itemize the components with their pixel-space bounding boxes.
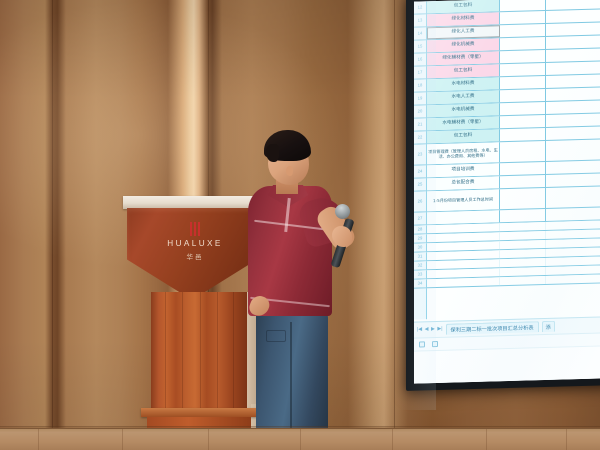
presenter-ear: [286, 166, 293, 176]
value-cell-b[interactable]: [500, 231, 546, 240]
value-cell-c[interactable]: [546, 186, 600, 208]
row-label-cell[interactable]: 水电辅材费（零星）: [427, 116, 500, 130]
row-label-cell[interactable]: 包工包料: [427, 0, 500, 13]
value-cell-b[interactable]: [500, 222, 546, 231]
row-label-cell[interactable]: 项目管理费（管理人员房租、水电、生活、办公费用、其他费等）: [427, 142, 500, 164]
row-number: 28: [414, 225, 427, 233]
hotel-logo: HUALUXE 华邑: [157, 222, 233, 261]
value-cell-c[interactable]: [546, 139, 600, 161]
value-cell-b[interactable]: [500, 141, 546, 162]
row-number: 16: [414, 53, 427, 65]
row-label-cell[interactable]: 水电材料费: [427, 77, 500, 91]
value-cell-b[interactable]: [500, 76, 546, 89]
lectern-base-cap: [141, 408, 257, 417]
value-cell-b[interactable]: [500, 249, 546, 258]
value-cell-c[interactable]: [546, 173, 600, 187]
value-cell-c[interactable]: [546, 126, 600, 140]
spreadsheet-rows: 12包工包料13绿化材料费14绿化人工费15绿化机械费16绿化辅材费（零星）17…: [414, 0, 600, 289]
screen-surface: 12包工包料13绿化材料费14绿化人工费15绿化机械费16绿化辅材费（零星）17…: [414, 0, 600, 384]
wall-panel-seam: [394, 0, 395, 450]
row-number: 26: [414, 191, 427, 211]
row-label-cell[interactable]: 水电机械费: [427, 103, 500, 117]
value-cell-b[interactable]: [500, 37, 546, 50]
sheet-tab-add[interactable]: 添: [542, 321, 555, 332]
presenter: [246, 128, 370, 450]
sheet-nav-buttons[interactable]: |◀ ◀ ▶ ▶|: [417, 327, 443, 333]
value-cell-c[interactable]: [546, 113, 600, 127]
row-number: 32: [414, 261, 427, 269]
hotel-logo-cn: 华邑: [157, 251, 233, 261]
row-number: 33: [414, 270, 427, 278]
value-cell-c[interactable]: [546, 238, 600, 248]
value-cell-b[interactable]: [500, 240, 546, 249]
value-cell-c[interactable]: [546, 74, 600, 88]
wainscot-band: [0, 428, 600, 450]
value-cell-c[interactable]: [546, 220, 600, 230]
value-cell-c[interactable]: [546, 265, 600, 275]
status-bar: [414, 345, 600, 383]
lectern-front-panel: HUALUXE 华邑: [127, 208, 257, 300]
value-cell-b[interactable]: [500, 102, 546, 115]
wall-panel-seam: [52, 0, 53, 450]
row-number: 25: [414, 178, 427, 190]
presenter-right-hand: [332, 226, 352, 247]
row-label-cell[interactable]: 水电人工费: [427, 90, 500, 104]
hotel-logo-word: HUALUXE: [157, 239, 233, 248]
row-number: 34: [414, 279, 427, 287]
row-label-cell[interactable]: [427, 210, 500, 224]
value-cell-b[interactable]: [500, 276, 546, 285]
value-cell-b[interactable]: [500, 267, 546, 276]
row-label-cell[interactable]: 绿化人工费: [427, 25, 500, 39]
row-number: 21: [414, 118, 427, 130]
value-cell-b[interactable]: [500, 209, 546, 222]
value-cell-b[interactable]: [500, 63, 546, 76]
hualuxe-mark-icon: [190, 222, 200, 236]
row-number: 18: [414, 79, 427, 91]
row-label-cell[interactable]: 包工包料: [427, 129, 500, 143]
sheet-tab-active[interactable]: 保利三期二标一批次项目汇总分析表: [446, 321, 539, 335]
value-cell-c[interactable]: [546, 100, 600, 114]
projection-screen: 12包工包料13绿化材料费14绿化人工费15绿化机械费16绿化辅材费（零星）17…: [406, 0, 600, 388]
spreadsheet-app: 12包工包料13绿化材料费14绿化人工费15绿化机械费16绿化辅材费（零星）17…: [414, 0, 600, 384]
prev-sheet-icon[interactable]: ◀: [425, 327, 429, 332]
row-label-cell[interactable]: 项目培训费: [427, 163, 500, 177]
value-cell-b[interactable]: [500, 24, 546, 37]
value-cell-c[interactable]: [546, 160, 600, 174]
row-label-cell[interactable]: 绿化辅材费（零星）: [427, 51, 500, 65]
row-number: 22: [414, 131, 427, 143]
row-label-cell[interactable]: 绿化机械费: [427, 38, 500, 52]
row-number: 19: [414, 92, 427, 104]
row-number: 30: [414, 243, 427, 251]
value-cell-c[interactable]: [546, 0, 600, 10]
row-number: 24: [414, 165, 427, 177]
value-cell-b[interactable]: [500, 162, 546, 175]
row-label-cell[interactable]: 总包配合费: [427, 176, 500, 190]
row-number: 27: [414, 212, 427, 224]
value-cell-b[interactable]: [500, 175, 546, 188]
row-number: 17: [414, 66, 427, 78]
row-label-cell[interactable]: 绿化材料费: [427, 12, 500, 26]
value-cell-b[interactable]: [500, 188, 546, 209]
first-sheet-icon[interactable]: |◀: [417, 327, 422, 332]
value-cell-b[interactable]: [500, 115, 546, 128]
value-cell-b[interactable]: [500, 89, 546, 102]
value-cell-b[interactable]: [500, 50, 546, 63]
row-number: 29: [414, 234, 427, 242]
layout-mode-icon[interactable]: [432, 341, 438, 347]
value-cell-b[interactable]: [500, 128, 546, 141]
value-cell-b[interactable]: [500, 258, 546, 267]
view-mode-icon[interactable]: [419, 341, 425, 347]
value-cell-b[interactable]: [500, 11, 546, 24]
value-cell-b[interactable]: [500, 0, 546, 11]
next-sheet-icon[interactable]: ▶: [431, 327, 435, 332]
row-label-cell[interactable]: 1-5月份项目管理人员工作总时间: [427, 189, 500, 211]
row-number: 12: [414, 1, 427, 13]
presentation-scene: 12包工包料13绿化材料费14绿化人工费15绿化机械费16绿化辅材费（零星）17…: [0, 0, 600, 450]
value-cell-c[interactable]: [546, 247, 600, 257]
spreadsheet-grid: 12包工包料13绿化材料费14绿化人工费15绿化机械费16绿化辅材费（零星）17…: [414, 0, 600, 320]
presenter-hair: [264, 130, 311, 161]
value-cell-c[interactable]: [546, 61, 600, 75]
value-cell-c[interactable]: [546, 256, 600, 266]
value-cell-c[interactable]: [546, 207, 600, 221]
row-number: 20: [414, 105, 427, 117]
last-sheet-icon[interactable]: ▶|: [437, 327, 442, 332]
value-cell-c[interactable]: [546, 87, 600, 101]
value-cell-c[interactable]: [546, 9, 600, 23]
row-number: 23: [414, 144, 427, 164]
value-cell-c[interactable]: [546, 35, 600, 49]
value-cell-c[interactable]: [546, 274, 600, 284]
row-number: 31: [414, 252, 427, 260]
row-number: 15: [414, 40, 427, 52]
row-number: 13: [414, 14, 427, 26]
row-number: 14: [414, 27, 427, 39]
row-label-cell[interactable]: [427, 277, 500, 287]
value-cell-c[interactable]: [546, 22, 600, 36]
row-label-cell[interactable]: 包工包料: [427, 64, 500, 78]
value-cell-c[interactable]: [546, 48, 600, 62]
value-cell-c[interactable]: [546, 229, 600, 239]
